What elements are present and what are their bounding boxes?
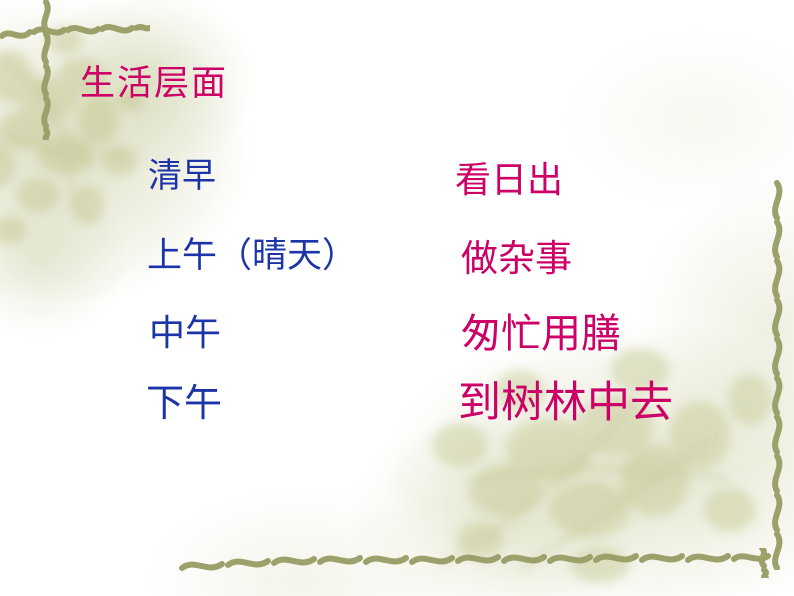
time-label-4: 下午 xyxy=(146,385,222,423)
page-title: 生活层面 xyxy=(80,66,228,101)
activity-label-4: 到树林中去 xyxy=(458,382,673,425)
vine-horizontal-bottom-icon xyxy=(178,548,778,578)
vine-vertical-left-icon xyxy=(30,0,62,140)
slide-canvas: 生活层面 清早 看日出 上午（晴天） 做杂事 中午 匆忙用膳 下午 到树林中去 xyxy=(0,0,794,596)
activity-label-3: 匆忙用膳 xyxy=(461,314,621,354)
time-label-1: 清早 xyxy=(148,160,216,194)
vine-horizontal-top-icon xyxy=(0,18,150,46)
time-label-3: 中午 xyxy=(149,315,221,351)
activity-label-2: 做杂事 xyxy=(461,241,572,278)
activity-label-1: 看日出 xyxy=(455,162,563,198)
vine-vertical-right-icon xyxy=(762,180,792,570)
floral-watermark-bottom-right xyxy=(400,330,794,596)
time-label-2: 上午（晴天） xyxy=(147,238,357,273)
